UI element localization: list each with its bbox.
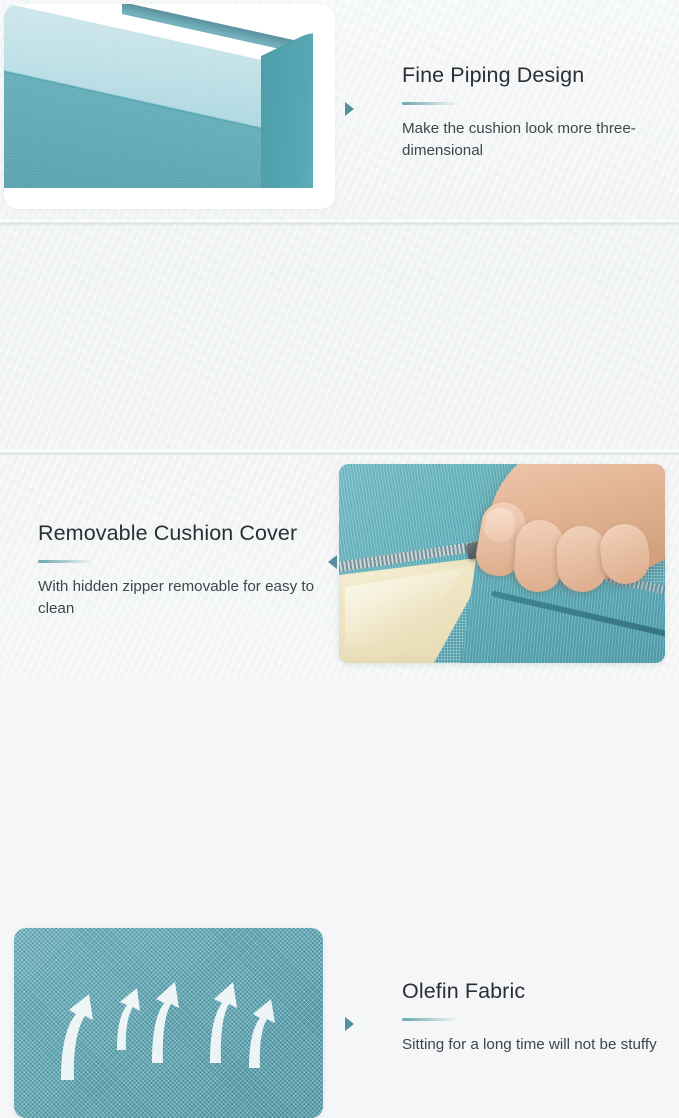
- section-subtext: Make the cushion look more three-dimensi…: [402, 118, 664, 162]
- section-divider-2: [0, 449, 679, 456]
- piping-photo-card: [4, 4, 335, 209]
- olefin-text-block: Olefin Fabric Sitting for a long time wi…: [402, 978, 664, 1056]
- olefin-fabric-photo: [14, 928, 323, 1118]
- section-removable-cushion-cover: Removable Cushion Cover With hidden zipp…: [0, 226, 679, 449]
- triangle-right-icon: [345, 102, 354, 116]
- cushion-side-face: [261, 22, 313, 188]
- infographic-page: Fine Piping Design Make the cushion look…: [0, 0, 679, 679]
- piping-text-block: Fine Piping Design Make the cushion look…: [402, 62, 664, 162]
- section-subtext: Sitting for a long time will not be stuf…: [402, 1034, 664, 1056]
- airflow-arrows-icon: [14, 928, 323, 1118]
- section-olefin-fabric: Olefin Fabric Sitting for a long time wi…: [0, 456, 679, 679]
- section-fine-piping-design: Fine Piping Design Make the cushion look…: [0, 0, 679, 219]
- heading-underline: [402, 1018, 458, 1021]
- section-heading: Olefin Fabric: [402, 978, 664, 1005]
- section-heading: Fine Piping Design: [402, 62, 664, 89]
- section-divider-1: [0, 219, 679, 226]
- cushion-corner-photo: [4, 4, 313, 188]
- triangle-right-icon: [345, 1017, 354, 1031]
- heading-underline: [402, 102, 458, 105]
